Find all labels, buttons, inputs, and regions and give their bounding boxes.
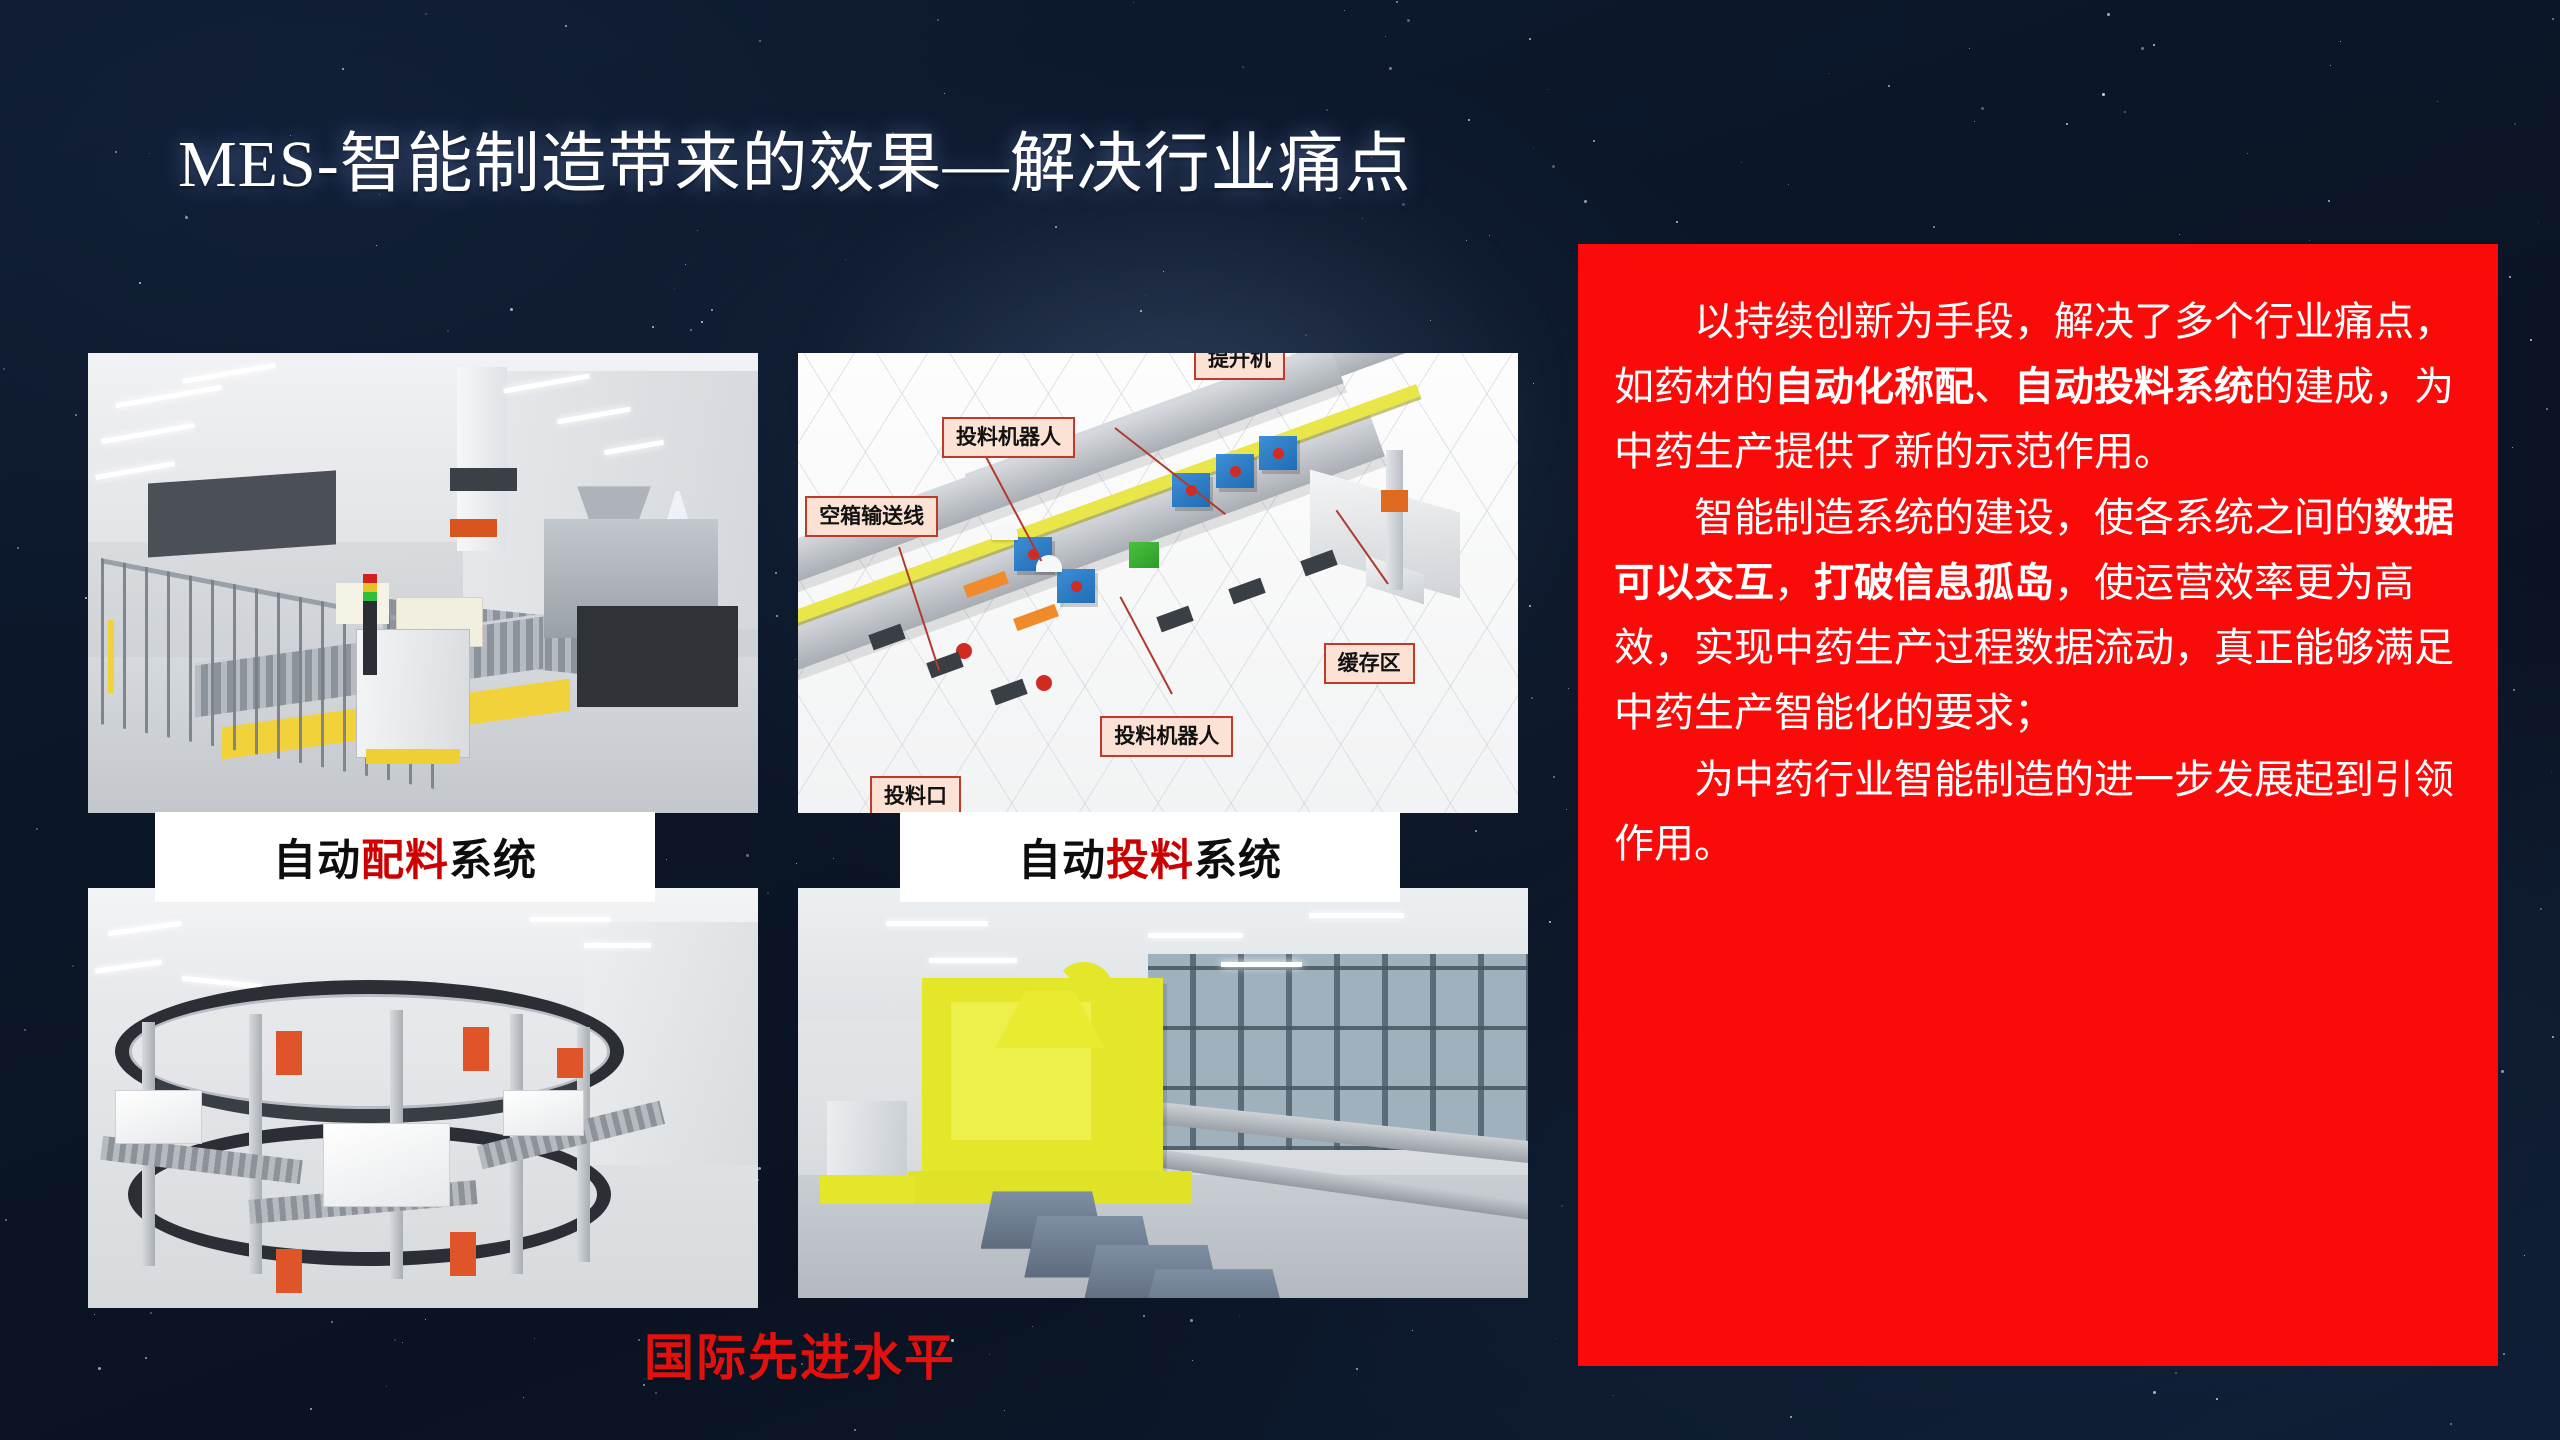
page-title: MES-智能制造带来的效果—解决行业痛点 <box>178 110 1412 206</box>
caption-auto-batching: 自动配料系统 <box>155 812 655 902</box>
red-paragraph-1: 以持续创新为手段，解决了多个行业痛点，如药材的自动化称配、自动投料系统的建成，为… <box>1614 290 2462 484</box>
red-paragraph-3: 为中药行业智能制造的进一步发展起到引领作用。 <box>1614 748 2462 878</box>
schematic-label-feeding-port: 投料口 <box>870 776 961 813</box>
slide-canvas: MES-智能制造带来的效果—解决行业痛点 <box>0 0 2560 1440</box>
photo-feeding-schematic: 提升机 投料机器人 空箱输送线 缓存区 投料机器人 投料口 <box>798 353 1518 813</box>
photo-yellow-gantry <box>798 888 1528 1298</box>
schematic-label-lift: 提升机 <box>1194 353 1285 380</box>
photo-spiral-conveyor <box>88 888 758 1308</box>
photo-auto-batching <box>88 353 758 813</box>
schematic-label-buffer-zone: 缓存区 <box>1324 643 1415 684</box>
schematic-label-feeding-robot-2: 投料机器人 <box>1100 716 1233 757</box>
caption-2-highlight: 投料 <box>1106 826 1194 888</box>
caption-2-prefix: 自动 <box>1018 826 1106 888</box>
caption-1-prefix: 自动 <box>273 826 361 888</box>
schematic-label-feeding-robot-1: 投料机器人 <box>942 417 1075 458</box>
schematic-label-empty-box-line: 空箱输送线 <box>805 496 938 537</box>
red-summary-panel: 以持续创新为手段，解决了多个行业痛点，如药材的自动化称配、自动投料系统的建成，为… <box>1578 244 2498 1366</box>
bottom-headline: 国际先进水平 <box>590 1318 1010 1390</box>
caption-1-suffix: 系统 <box>449 826 537 888</box>
caption-2-suffix: 系统 <box>1194 826 1282 888</box>
caption-1-highlight: 配料 <box>361 826 449 888</box>
caption-auto-feeding: 自动投料系统 <box>900 812 1400 902</box>
red-paragraph-2: 智能制造系统的建设，使各系统之间的数据可以交互，打破信息孤岛，使运营效率更为高效… <box>1614 486 2462 745</box>
